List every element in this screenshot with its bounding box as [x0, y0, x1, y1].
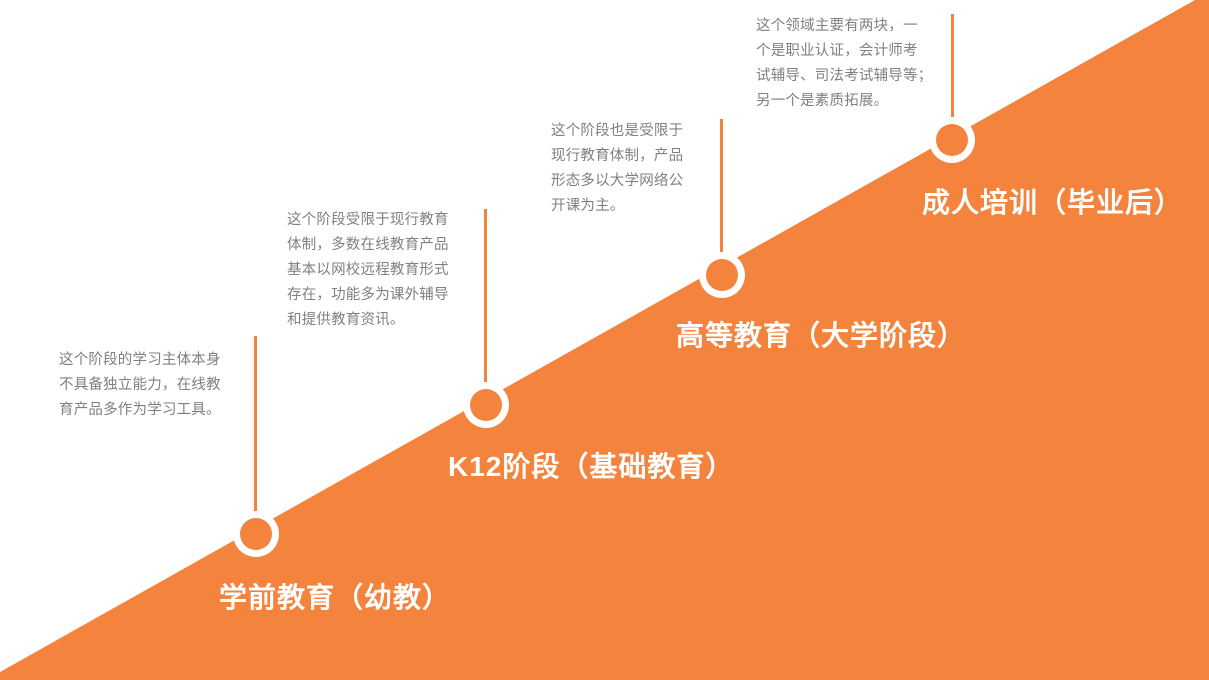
connector-stem-preschool [254, 336, 257, 526]
stage-label-higher-education: 高等教育（大学阶段） [676, 314, 966, 354]
node-marker-k12[interactable] [470, 389, 502, 421]
orange-diagonal-wedge [0, 0, 1209, 680]
node-marker-higher-education[interactable] [706, 259, 738, 291]
stage-label-adult-training: 成人培训（毕业后） [922, 181, 1183, 221]
connector-stem-k12 [484, 209, 487, 391]
note-higher-education: 这个阶段也是受限于 现行教育体制，产品 形态多以大学网络公 开课为主。 [551, 119, 721, 219]
node-marker-preschool[interactable] [240, 518, 272, 550]
stage-label-k12: K12阶段（基础教育） [448, 445, 734, 485]
node-marker-adult-training[interactable] [936, 124, 968, 156]
note-k12: 这个阶段受限于现行教育 体制，多数在线教育产品 基本以网校远程教育形式 存在，功… [287, 208, 487, 333]
note-preschool: 这个阶段的学习主体本身 不具备独立能力，在线教 育产品多作为学习工具。 [59, 348, 259, 423]
stage-label-preschool: 学前教育（幼教） [219, 576, 451, 616]
note-adult-training: 这个领域主要有两块，一 个是职业认证，会计师考 试辅导、司法考试辅导等； 另一个… [756, 14, 956, 114]
infographic-canvas: 这个阶段的学习主体本身 不具备独立能力，在线教 育产品多作为学习工具。 学前教育… [0, 0, 1209, 680]
connector-stem-adult-training [951, 14, 954, 127]
connector-stem-higher-education [720, 119, 723, 263]
